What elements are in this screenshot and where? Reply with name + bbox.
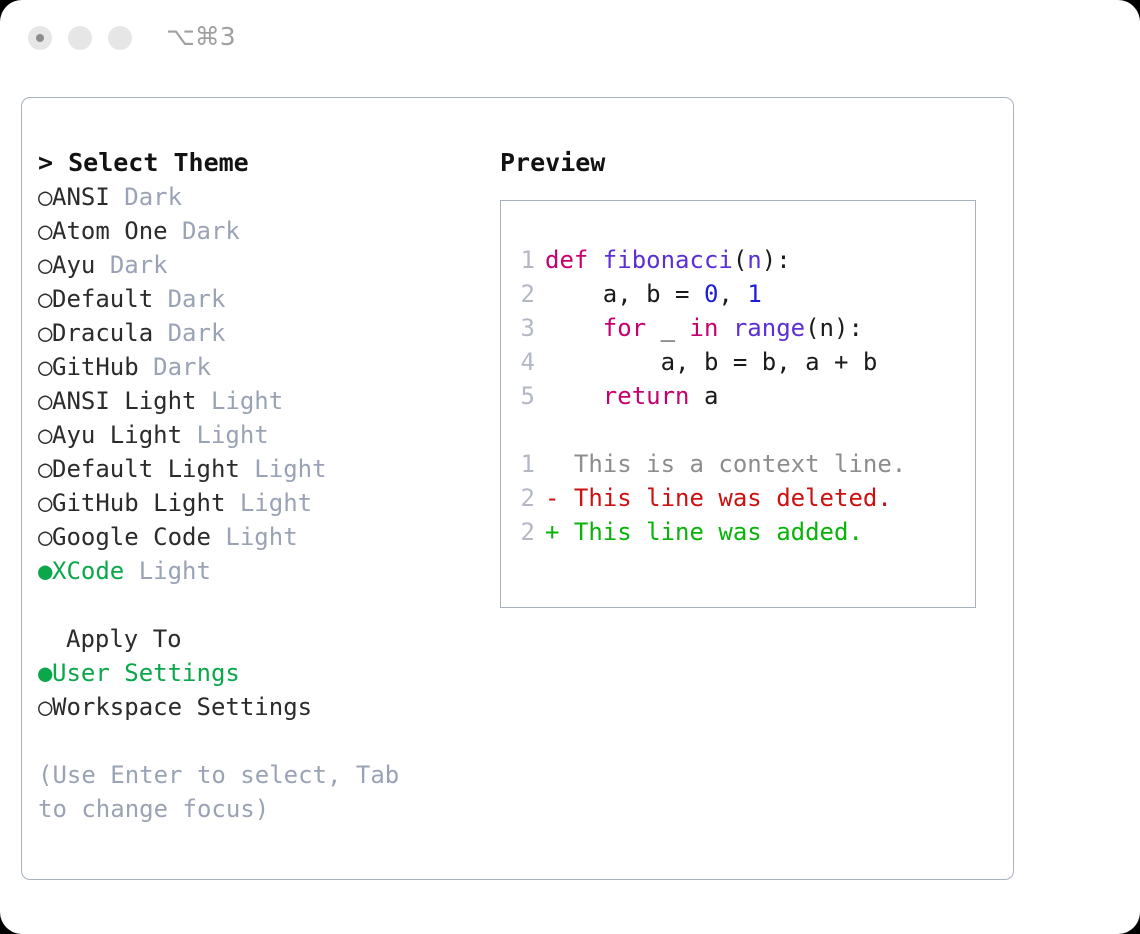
theme-option-kind: Light <box>197 421 269 449</box>
theme-option-xcode[interactable]: ●XCode Light <box>38 554 468 588</box>
theme-option-kind: Dark <box>168 319 226 347</box>
apply-to-list: ●User Settings ○Workspace Settings <box>38 656 468 724</box>
theme-option-kind: Dark <box>124 183 182 211</box>
title-bar: ⌥⌘3 <box>0 0 1140 78</box>
code-token: a, b = b, a + b <box>545 348 877 376</box>
close-dot-icon[interactable] <box>28 26 52 50</box>
theme-option-kind: Dark <box>168 285 226 313</box>
code-blank-line <box>513 413 969 447</box>
radio-selected-icon: ● <box>38 656 52 690</box>
apply-option-workspace-settings[interactable]: ○Workspace Settings <box>38 690 468 724</box>
preview-heading: Preview <box>500 146 990 180</box>
theme-picker-column: > Select Theme ○ANSI Dark ○Atom One Dark… <box>38 146 468 826</box>
code-token: def <box>545 246 603 274</box>
theme-option-github[interactable]: ○GitHub Dark <box>38 350 468 384</box>
theme-list: ○ANSI Dark ○Atom One Dark ○Ayu Dark ○Def… <box>38 180 468 588</box>
main-panel: > Select Theme ○ANSI Dark ○Atom One Dark… <box>21 97 1014 880</box>
diff-sign: - <box>545 484 574 512</box>
code-token: _ <box>661 314 690 342</box>
theme-option-kind: Light <box>139 557 211 585</box>
code-token: fibonacci <box>603 246 733 274</box>
theme-option-kind: Dark <box>153 353 211 381</box>
diff-text: This line was deleted. <box>574 484 892 512</box>
apply-to-heading: Apply To <box>38 622 468 656</box>
line-number: 4 <box>513 345 535 379</box>
close-dot-inner <box>36 34 44 42</box>
code-token: (n): <box>805 314 863 342</box>
radio-unselected-icon: ○ <box>38 520 52 554</box>
theme-option-kind: Light <box>254 455 326 483</box>
theme-option-google-code[interactable]: ○Google Code Light <box>38 520 468 554</box>
theme-option-label: Default Light <box>52 455 240 483</box>
keyboard-hint-text: (Use Enter to select, Tab to change focu… <box>38 758 442 826</box>
theme-option-label: GitHub Light <box>52 489 225 517</box>
diff-line-added: 2+ This line was added. <box>513 515 969 549</box>
code-token: a <box>704 382 718 410</box>
apply-option-label: Workspace Settings <box>52 693 312 721</box>
code-token: 0 <box>704 280 718 308</box>
theme-option-kind: Light <box>211 387 283 415</box>
code-token: , <box>718 280 747 308</box>
theme-option-label: Default <box>52 285 153 313</box>
code-line: 1def fibonacci(n): <box>513 243 969 277</box>
line-number: 5 <box>513 379 535 413</box>
theme-option-ansi[interactable]: ○ANSI Dark <box>38 180 468 214</box>
diff-text: This line was added. <box>574 518 863 546</box>
theme-option-ansi-light[interactable]: ○ANSI Light Light <box>38 384 468 418</box>
theme-option-label: Dracula <box>52 319 153 347</box>
line-number: 2 <box>513 481 535 515</box>
radio-unselected-icon: ○ <box>38 384 52 418</box>
diff-line-deleted: 2- This line was deleted. <box>513 481 969 515</box>
code-preview-area: 1def fibonacci(n): 2 a, b = 0, 1 3 for _… <box>513 243 969 549</box>
theme-option-label: XCode <box>52 557 124 585</box>
line-number: 2 <box>513 277 535 311</box>
theme-option-label: Google Code <box>52 523 211 551</box>
preview-column: Preview 1def fibonacci(n): 2 a, b = 0, 1… <box>500 146 990 608</box>
keyboard-shortcut-label: ⌥⌘3 <box>166 22 236 51</box>
radio-unselected-icon: ○ <box>38 486 52 520</box>
line-number: 2 <box>513 515 535 549</box>
line-number: 1 <box>513 243 535 277</box>
code-token: return <box>545 382 704 410</box>
radio-unselected-icon: ○ <box>38 214 52 248</box>
radio-unselected-icon: ○ <box>38 248 52 282</box>
diff-text: This is a context line. <box>574 450 906 478</box>
radio-unselected-icon: ○ <box>38 180 52 214</box>
code-token: ( <box>733 246 747 274</box>
theme-option-atom-one[interactable]: ○Atom One Dark <box>38 214 468 248</box>
theme-option-label: GitHub <box>52 353 139 381</box>
preview-box: 1def fibonacci(n): 2 a, b = 0, 1 3 for _… <box>500 200 976 608</box>
theme-option-label: ANSI <box>52 183 110 211</box>
code-token: 1 <box>747 280 761 308</box>
theme-option-kind: Light <box>240 489 312 517</box>
code-line: 4 a, b = b, a + b <box>513 345 969 379</box>
minimize-dot-icon[interactable] <box>68 26 92 50</box>
radio-unselected-icon: ○ <box>38 350 52 384</box>
app-window: ⌥⌘3 > Select Theme ○ANSI Dark ○Atom One … <box>0 0 1140 934</box>
theme-option-label: ANSI Light <box>52 387 197 415</box>
code-line: 2 a, b = 0, 1 <box>513 277 969 311</box>
radio-unselected-icon: ○ <box>38 452 52 486</box>
code-token: in <box>690 314 733 342</box>
section-spacer <box>38 588 468 622</box>
theme-option-label: Ayu <box>52 251 95 279</box>
theme-option-default-light[interactable]: ○Default Light Light <box>38 452 468 486</box>
theme-option-github-light[interactable]: ○GitHub Light Light <box>38 486 468 520</box>
hint-spacer <box>38 724 468 758</box>
code-token: range <box>733 314 805 342</box>
code-token: for <box>545 314 661 342</box>
diff-sign <box>545 450 574 478</box>
code-line: 3 for _ in range(n): <box>513 311 969 345</box>
window-controls <box>28 26 132 50</box>
theme-option-label: Atom One <box>52 217 168 245</box>
code-token: a, b = <box>545 280 704 308</box>
line-number: 3 <box>513 311 535 345</box>
maximize-dot-icon[interactable] <box>108 26 132 50</box>
code-line: 5 return a <box>513 379 969 413</box>
radio-unselected-icon: ○ <box>38 418 52 452</box>
apply-option-user-settings[interactable]: ●User Settings <box>38 656 468 690</box>
radio-unselected-icon: ○ <box>38 690 52 724</box>
theme-option-dracula[interactable]: ○Dracula Dark <box>38 316 468 350</box>
diff-sign: + <box>545 518 574 546</box>
theme-option-ayu[interactable]: ○Ayu Dark <box>38 248 468 282</box>
theme-option-kind: Light <box>225 523 297 551</box>
code-token: ): <box>762 246 791 274</box>
code-token: n <box>747 246 761 274</box>
radio-unselected-icon: ○ <box>38 282 52 316</box>
radio-selected-icon: ● <box>38 554 52 588</box>
theme-option-ayu-light[interactable]: ○Ayu Light Light <box>38 418 468 452</box>
apply-option-label: User Settings <box>52 659 240 687</box>
radio-unselected-icon: ○ <box>38 316 52 350</box>
line-number: 1 <box>513 447 535 481</box>
theme-option-kind: Dark <box>110 251 168 279</box>
theme-option-default[interactable]: ○Default Dark <box>38 282 468 316</box>
theme-option-kind: Dark <box>182 217 240 245</box>
select-theme-heading: > Select Theme <box>38 146 468 180</box>
theme-option-label: Ayu Light <box>52 421 182 449</box>
diff-line-context: 1 This is a context line. <box>513 447 969 481</box>
